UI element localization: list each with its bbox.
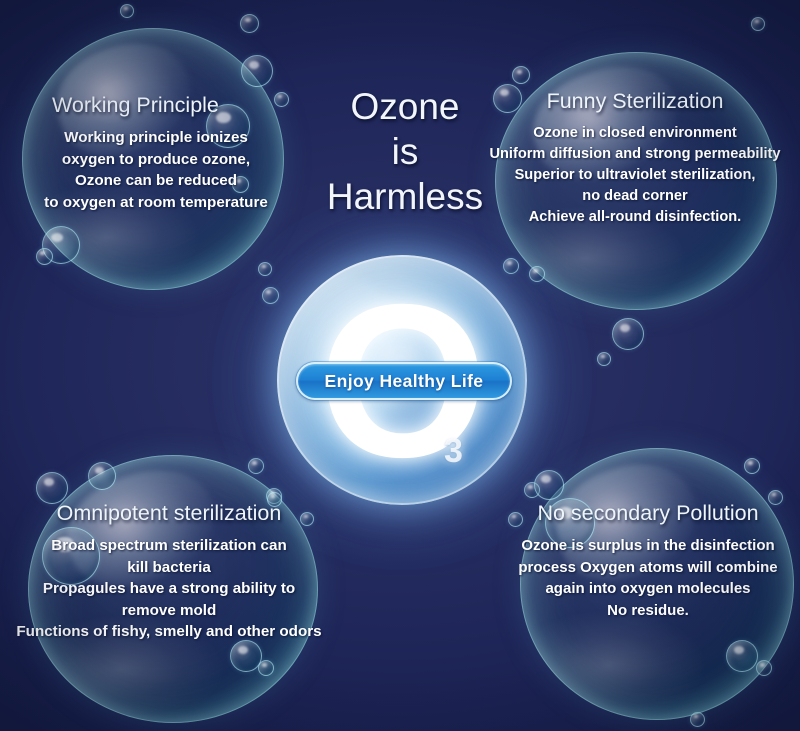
panel-line: oxygen to produce ozone, <box>22 149 290 171</box>
panel-line: No residue. <box>496 600 800 622</box>
panel-line: remove mold <box>2 600 336 622</box>
panel-line: Ozone is surplus in the disinfection <box>496 535 800 557</box>
panel-body: Broad spectrum sterilization can kill ba… <box>2 535 336 643</box>
panel-line: again into oxygen molecules <box>496 578 800 600</box>
panel-title: Funny Sterilization <box>474 88 796 114</box>
panel-body: Ozone in closed environment Uniform diff… <box>474 123 796 228</box>
mini-bubble <box>756 660 772 676</box>
mini-bubble <box>241 55 273 87</box>
enjoy-healthy-life-badge[interactable]: Enjoy Healthy Life <box>296 362 512 400</box>
panel-line: Ozone can be reduced <box>22 170 290 192</box>
panel-line: Working principle ionizes <box>22 127 290 149</box>
mini-bubble <box>240 14 259 33</box>
mini-bubble <box>512 66 530 84</box>
panel-line: Propagules have a strong ability to <box>2 578 336 600</box>
mini-bubble <box>258 262 272 276</box>
mini-bubble <box>36 248 53 265</box>
badge-label: Enjoy Healthy Life <box>325 371 484 392</box>
ozone-infographic-poster: O 3 Enjoy Healthy Life Ozone is Harmless… <box>0 0 800 731</box>
panel-body: Working principle ionizes oxygen to prod… <box>22 127 290 213</box>
panel-omnipotent-sterilization: Omnipotent sterilization Broad spectrum … <box>2 500 336 643</box>
panel-line: no dead corner <box>474 186 796 207</box>
mini-bubble <box>726 640 758 672</box>
mini-bubble <box>120 4 134 18</box>
panel-line: Broad spectrum sterilization can <box>2 535 336 557</box>
panel-line: process Oxygen atoms will combine <box>496 557 800 579</box>
panel-no-secondary-pollution: No secondary Pollution Ozone is surplus … <box>496 500 800 621</box>
panel-title: Working Principle <box>22 92 290 118</box>
o3-subscript: 3 <box>444 432 463 471</box>
mini-bubble <box>597 352 611 366</box>
panel-working-principle: Working Principle Working principle ioni… <box>22 92 290 213</box>
mini-bubble <box>88 462 116 490</box>
mini-bubble <box>690 712 705 727</box>
mini-bubble <box>529 266 545 282</box>
panel-line: Uniform diffusion and strong permeabilit… <box>474 144 796 165</box>
panel-funny-sterilization: Funny Sterilization Ozone in closed envi… <box>474 88 796 228</box>
panel-line: kill bacteria <box>2 557 336 579</box>
panel-line: Achieve all-round disinfection. <box>474 207 796 228</box>
panel-body: Ozone is surplus in the disinfection pro… <box>496 535 800 621</box>
mini-bubble <box>612 318 644 350</box>
mini-bubble <box>744 458 760 474</box>
panel-line: Superior to ultraviolet sterilization, <box>474 165 796 186</box>
panel-line: to oxygen at room temperature <box>22 192 290 214</box>
mini-bubble <box>751 17 765 31</box>
mini-bubble <box>258 660 274 676</box>
panel-line: Ozone in closed environment <box>474 123 796 144</box>
panel-line: Functions of fishy, smelly and other odo… <box>2 621 336 643</box>
mini-bubble <box>534 470 564 500</box>
mini-bubble <box>248 458 264 474</box>
panel-title: Omnipotent sterilization <box>2 500 336 526</box>
panel-title: No secondary Pollution <box>496 500 800 526</box>
